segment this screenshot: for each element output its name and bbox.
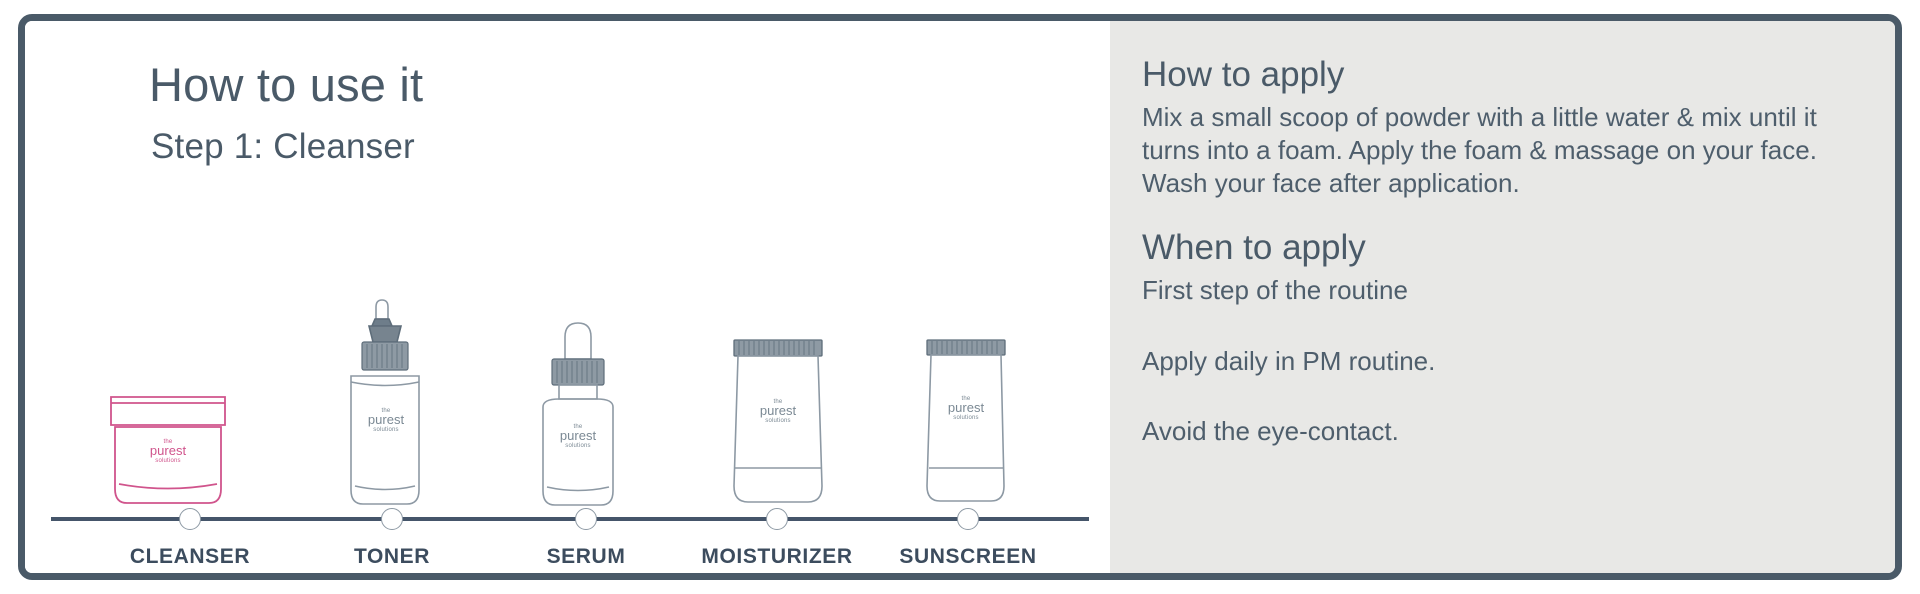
product-cleanser-jar[interactable]: the purest solutions [103,391,233,511]
step-subtitle: Step 1: Cleanser [151,127,415,167]
brand-mark: the purest solutions [723,399,833,424]
when-to-apply-heading: When to apply [1142,228,1895,268]
how-to-apply-heading: How to apply [1142,55,1895,95]
product-serum-dropper[interactable]: the purest solutions [523,311,633,511]
product-moisturizer-tube[interactable]: the purest solutions [723,336,833,511]
squeeze-bottle-icon [331,296,441,511]
instructions-panel: How to apply Mix a small scoop of powder… [1110,21,1895,573]
timeline-dot-toner[interactable] [381,508,403,530]
spacer [1142,307,1895,345]
brand-mark: the purest solutions [103,439,233,464]
when-to-apply-line-3: Avoid the eye-contact. [1142,415,1895,448]
step-label-cleanser[interactable]: CLEANSER [130,545,250,569]
step-label-moisturizer[interactable]: MOISTURIZER [701,545,852,569]
step-label-toner[interactable]: TONER [354,545,430,569]
timeline-dot-moisturizer[interactable] [766,508,788,530]
spacer [1142,377,1895,415]
how-to-use-card: How to use it Step 1: Cleanser the pures… [18,14,1902,580]
brand-mark: the purest solutions [523,424,633,449]
tube-icon [918,336,1014,511]
routine-timeline [51,517,1089,521]
dropper-bottle-icon [523,311,633,511]
product-toner-bottle[interactable]: the purest solutions [331,296,441,511]
brand-mark: the purest solutions [918,396,1014,421]
timeline-dot-serum[interactable] [575,508,597,530]
brand-mark: the purest solutions [331,408,441,433]
product-sunscreen-tube[interactable]: the purest solutions [918,336,1014,511]
page-title: How to use it [149,57,423,112]
step-label-serum[interactable]: SERUM [547,545,626,569]
step-label-sunscreen[interactable]: SUNSCREEN [899,545,1036,569]
timeline-dot-cleanser[interactable] [179,508,201,530]
timeline-dot-sunscreen[interactable] [957,508,979,530]
how-to-apply-body: Mix a small scoop of powder with a littl… [1142,101,1862,200]
product-illustrations: the purest solutions [25,251,1110,511]
when-to-apply-line-2: Apply daily in PM routine. [1142,345,1895,378]
when-to-apply-line-1: First step of the routine [1142,274,1895,307]
left-panel: How to use it Step 1: Cleanser the pures… [25,21,1110,573]
